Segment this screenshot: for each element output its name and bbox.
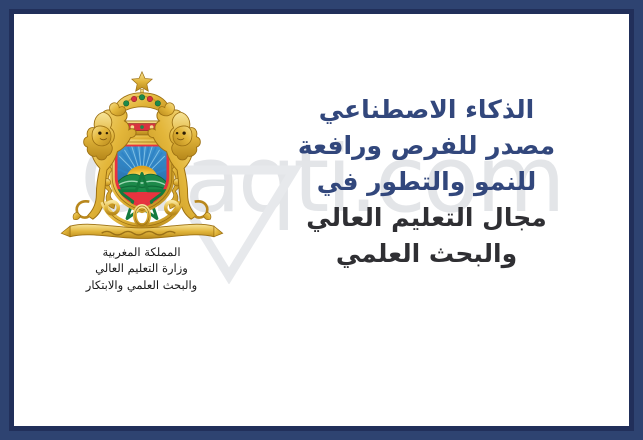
poster: Oraqti.com الذكاء الاصطناعي مصدر للفرص و… bbox=[0, 0, 643, 440]
headline-line-1: الذكاء الاصطناعي bbox=[247, 92, 607, 128]
ministry-name: المملكة المغربية وزارة التعليم العالي وا… bbox=[86, 244, 197, 293]
poster-content: الذكاء الاصطناعي مصدر للفرص ورافعة للنمو… bbox=[14, 14, 629, 426]
ministry-line-3: والبحث العلمي والابتكار bbox=[86, 277, 197, 293]
emblem-block: المملكة المغربية وزارة التعليم العالي وا… bbox=[37, 70, 247, 293]
ministry-line-1: المملكة المغربية bbox=[86, 244, 197, 260]
headline-line-5: والبحث العلمي bbox=[247, 236, 607, 272]
ministry-line-2: وزارة التعليم العالي bbox=[86, 260, 197, 276]
headline-line-2: مصدر للفرص ورافعة bbox=[247, 128, 607, 164]
headline-line-4: مجال التعليم العالي bbox=[247, 200, 607, 236]
motto-ribbon bbox=[61, 202, 222, 239]
poster-inner-frame: Oraqti.com الذكاء الاصطناعي مصدر للفرص و… bbox=[9, 9, 634, 431]
morocco-coat-of-arms-icon bbox=[54, 70, 230, 242]
poster-canvas: Oraqti.com الذكاء الاصطناعي مصدر للفرص و… bbox=[14, 14, 629, 426]
headline-line-3: للنمو والتطور في bbox=[247, 164, 607, 200]
headline: الذكاء الاصطناعي مصدر للفرص ورافعة للنمو… bbox=[247, 70, 607, 272]
